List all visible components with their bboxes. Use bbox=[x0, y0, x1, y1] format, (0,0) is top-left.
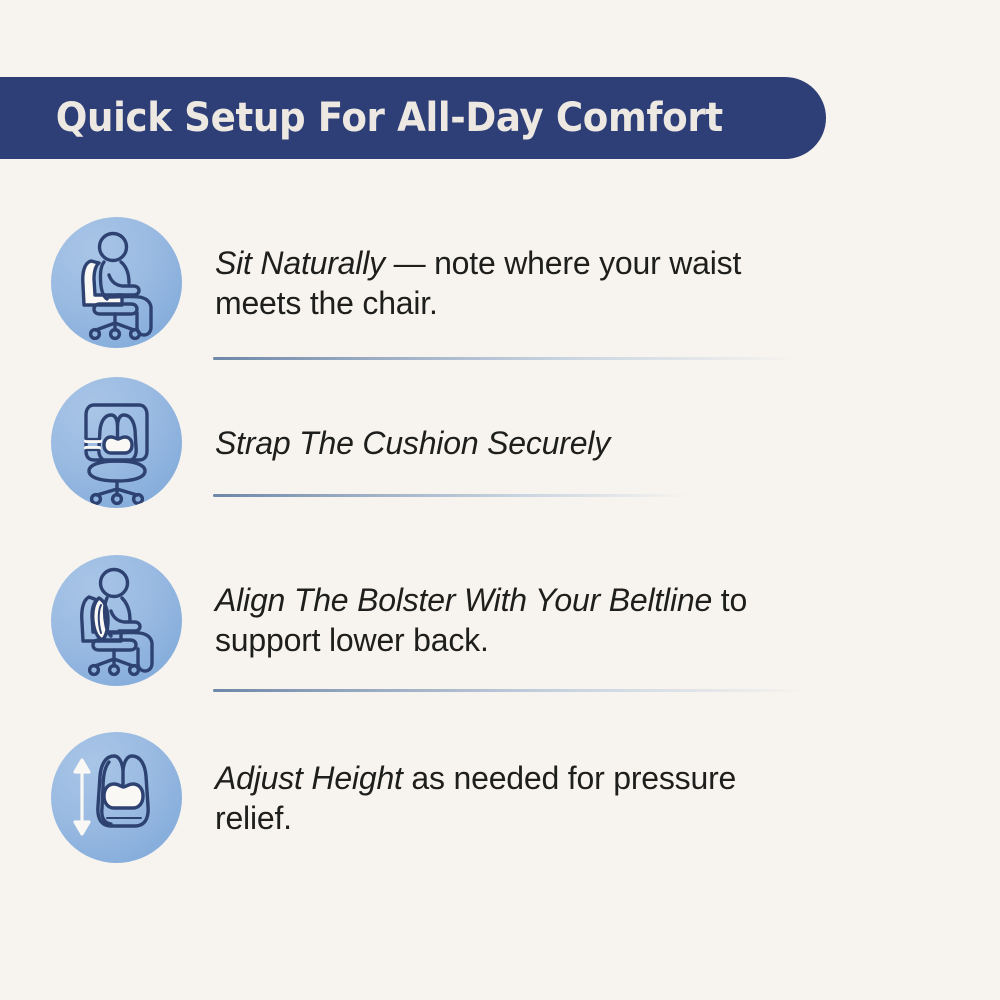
infographic-poster: Quick Setup For All-Day Comfort bbox=[0, 0, 1000, 1000]
divider-line bbox=[213, 494, 691, 497]
person-sitting-in-chair-icon bbox=[51, 217, 182, 348]
step-lead: Adjust Height bbox=[215, 760, 403, 796]
step-text: Strap The Cushion Securely bbox=[215, 423, 610, 463]
step-item: Align The Bolster With Your Beltline to … bbox=[0, 525, 1000, 715]
divider-line bbox=[213, 357, 800, 360]
person-with-lumbar-bolster-icon bbox=[51, 555, 182, 686]
step-item: Sit Naturally — note where your waist me… bbox=[0, 205, 1000, 360]
page-title: Quick Setup For All-Day Comfort bbox=[0, 95, 723, 141]
divider-after-step-2 bbox=[213, 494, 691, 497]
step-item: Adjust Height as needed for pressure rel… bbox=[0, 715, 1000, 880]
step-text: Align The Bolster With Your Beltline to … bbox=[215, 580, 775, 660]
step-lead: Strap The Cushion Securely bbox=[215, 425, 610, 461]
divider-after-step-3 bbox=[213, 689, 812, 692]
steps-list: Sit Naturally — note where your waist me… bbox=[0, 205, 1000, 880]
chair-with-strapped-cushion-icon bbox=[51, 377, 182, 508]
header-banner: Quick Setup For All-Day Comfort bbox=[0, 77, 826, 159]
step-lead: Sit Naturally bbox=[215, 245, 385, 281]
divider-line bbox=[213, 689, 812, 692]
step-item: Strap The Cushion Securely bbox=[0, 360, 1000, 525]
divider-after-step-1 bbox=[213, 357, 800, 360]
cushion-height-adjust-icon bbox=[51, 732, 182, 863]
step-lead: Align The Bolster With Your Beltline bbox=[215, 582, 712, 618]
step-text: Adjust Height as needed for pressure rel… bbox=[215, 758, 775, 838]
step-text: Sit Naturally — note where your waist me… bbox=[215, 243, 775, 323]
